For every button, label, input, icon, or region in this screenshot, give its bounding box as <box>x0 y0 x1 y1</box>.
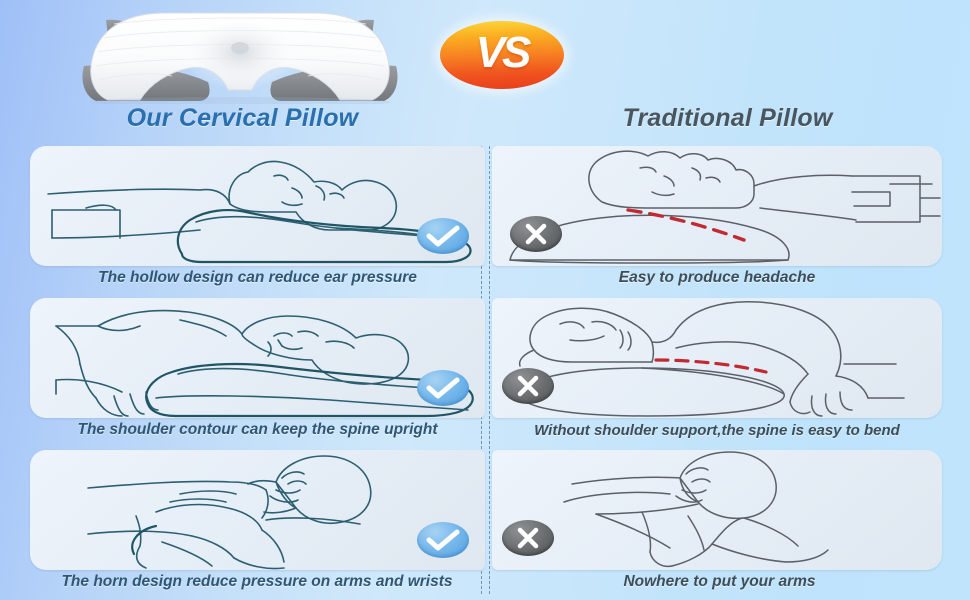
panel-ours-row3 <box>30 450 485 570</box>
comparison-infographic: Our Cervical Pillow <box>0 0 970 600</box>
caption-traditional-row3: Nowhere to put your arms <box>492 572 947 592</box>
check-badge <box>417 370 469 406</box>
close-icon <box>515 373 541 399</box>
close-icon <box>515 525 541 551</box>
check-badge <box>417 218 469 254</box>
hero-column-traditional: Traditional Pillow <box>485 0 970 146</box>
comparison-row: The hollow design can reduce ear pressur… <box>0 146 970 288</box>
panel-ours-row2 <box>30 298 485 418</box>
close-icon <box>523 221 549 247</box>
vs-label: VS <box>476 28 529 78</box>
check-badge <box>417 522 469 558</box>
side-sleeper-arms-unsupported-illustration <box>492 450 942 570</box>
panel-traditional-row3 <box>492 450 942 570</box>
page-title-traditional: Traditional Pillow <box>485 104 970 133</box>
caption-ours-row3: The horn design reduce pressure on arms … <box>22 572 492 592</box>
check-icon <box>426 225 460 247</box>
vs-badge: VS <box>440 21 564 89</box>
side-sleeper-on-flat-pillow-illustration <box>492 298 942 418</box>
back-sleeper-on-flat-pillow-illustration <box>492 146 942 266</box>
caption-traditional-row1: Easy to produce headache <box>492 268 942 288</box>
comparison-row: The horn design reduce pressure on arms … <box>0 450 970 592</box>
hero-column-ours: Our Cervical Pillow <box>0 0 485 146</box>
cross-badge <box>510 216 562 252</box>
cross-badge <box>502 368 554 404</box>
page-title-ours: Our Cervical Pillow <box>0 104 485 133</box>
side-sleeper-on-cervical-pillow-illustration <box>30 298 485 418</box>
panel-traditional-row2 <box>492 298 942 418</box>
back-sleeper-on-cervical-pillow-illustration <box>30 146 485 266</box>
comparison-grid: The hollow design can reduce ear pressur… <box>0 146 970 600</box>
caption-ours-row1: The hollow design can reduce ear pressur… <box>30 268 485 288</box>
caption-traditional-row2: Without shoulder support,the spine is ea… <box>492 420 942 440</box>
hero-section: Our Cervical Pillow <box>0 0 970 146</box>
caption-ours-row2: The shoulder contour can keep the spine … <box>30 420 485 440</box>
cross-badge <box>502 520 554 556</box>
comparison-row: The shoulder contour can keep the spine … <box>0 298 970 440</box>
check-icon <box>426 377 460 399</box>
cervical-pillow-photo <box>62 4 418 104</box>
panel-traditional-row1 <box>492 146 942 266</box>
check-icon <box>426 529 460 551</box>
side-sleeper-arms-supported-illustration <box>30 450 485 570</box>
panel-ours-row1 <box>30 146 485 266</box>
